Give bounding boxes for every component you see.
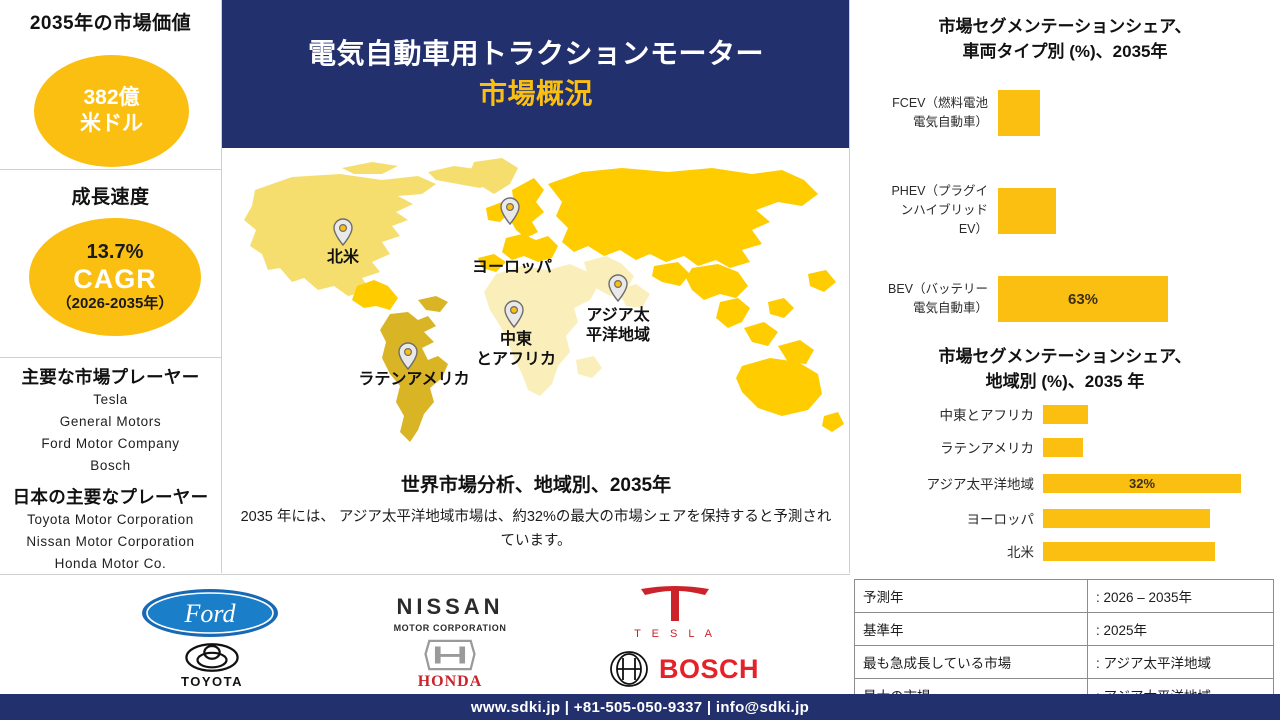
vehicle-type-chart-title-line2: 車両タイプ別 (%)、2035年 xyxy=(858,39,1272,64)
vehicle-type-label-phev: PHEV（プラグイ ンハイブリッド EV） xyxy=(850,182,998,239)
map-pin-latin-america xyxy=(397,342,419,370)
market-value-cell: 2035年の市場価値 382億 米ドル xyxy=(0,0,221,170)
footer-bar: www.sdki.jp | +81-505-050-9337 | info@sd… xyxy=(0,694,1280,720)
table-row: 基準年 : 2025年 xyxy=(855,613,1274,646)
region-bar-row: ヨーロッパ xyxy=(850,506,1280,530)
region-label-mea: 中東とアフリカ xyxy=(850,404,1043,424)
region-bar-latam xyxy=(1043,438,1083,457)
japan-players-heading: 日本の主要なプレーヤー xyxy=(0,477,221,509)
footer-contact-text: www.sdki.jp | +81-505-050-9337 | info@sd… xyxy=(471,699,809,716)
fact-value: : アジア太平洋地域 xyxy=(1087,646,1273,679)
vehicle-type-label-bev: BEV（バッテリー 電気自動車） xyxy=(850,280,998,318)
label-line: PHEV（プラグイ xyxy=(850,182,988,201)
market-value-bubble: 382億 米ドル xyxy=(34,55,189,167)
fact-value: : 2025年 xyxy=(1087,613,1273,646)
infographic-page: 2035年の市場価値 382億 米ドル 成長速度 13.7% CAGR （202… xyxy=(0,0,1280,720)
bosch-emblem-icon xyxy=(609,650,649,688)
bosch-logo: BOSCH xyxy=(596,649,772,689)
fact-value: : 2026 – 2035年 xyxy=(1087,580,1273,613)
map-pin-asia-pacific xyxy=(607,274,629,302)
growth-rate-bubble: 13.7% CAGR （2026-2035年） xyxy=(29,218,201,336)
region-bar-europe xyxy=(1043,509,1210,528)
player-item: General Motors xyxy=(0,411,221,433)
region-bar-apac: 32% xyxy=(1043,474,1241,493)
region-label-europe: ヨーロッパ xyxy=(850,508,1043,528)
player-item: Bosch xyxy=(0,455,221,477)
fact-key: 最も急成長している市場 xyxy=(855,646,1088,679)
vehicle-type-bar-phev xyxy=(998,188,1056,234)
svg-text:Ford: Ford xyxy=(183,599,236,628)
region-bar-row: ラテンアメリカ xyxy=(850,435,1280,459)
growth-rate-title: 成長速度 xyxy=(0,170,221,209)
region-chart-title: 市場セグメンテーションシェア、 地域別 (%)、2035 年 xyxy=(858,344,1272,394)
right-charts-column: 市場セグメンテーションシェア、 車両タイプ別 (%)、2035年 FCEV（燃料… xyxy=(850,0,1280,573)
honda-logo-text: HONDA xyxy=(418,673,483,691)
region-bar-mea xyxy=(1043,405,1088,424)
label-line: BEV（バッテリー xyxy=(850,280,988,299)
left-stats-column: 2035年の市場価値 382億 米ドル 成長速度 13.7% CAGR （202… xyxy=(0,0,222,573)
toyota-logo-text: TOYOTA xyxy=(181,674,243,689)
region-bar-row: 北米 xyxy=(850,539,1280,563)
player-item: Nissan Motor Corporation xyxy=(0,531,221,553)
market-value-title: 2035年の市場価値 xyxy=(0,0,221,35)
vehicle-type-chart-title: 市場セグメンテーションシェア、 車両タイプ別 (%)、2035年 xyxy=(858,14,1272,64)
vehicle-type-bar-fcev xyxy=(998,90,1040,136)
map-label-latin-america: ラテンアメリカ xyxy=(332,370,496,390)
map-label-middle-east-africa: 中東とアフリカ xyxy=(472,330,560,370)
column-divider xyxy=(849,0,850,573)
label-line: 電気自動車） xyxy=(850,299,988,318)
region-bar-row: アジア太平洋地域 32% xyxy=(850,471,1280,495)
tesla-t-icon xyxy=(637,585,713,623)
region-chart-title-line1: 市場セグメンテーションシェア、 xyxy=(858,344,1272,369)
ford-logo: Ford xyxy=(140,587,280,639)
map-pin-north-america xyxy=(332,218,354,246)
fact-key: 基準年 xyxy=(855,613,1088,646)
region-bar-value: 32% xyxy=(1129,476,1155,491)
nissan-logo: NISSAN MOTOR CORPORATION xyxy=(380,589,520,637)
vehicle-type-label-fcev: FCEV（燃料電池 電気自動車） xyxy=(850,94,998,132)
region-label-apac: アジア太平洋地域 xyxy=(850,473,1043,493)
bosch-logo-text: BOSCH xyxy=(659,654,759,685)
honda-logo: HONDA xyxy=(396,639,504,691)
player-item: Toyota Motor Corporation xyxy=(0,509,221,531)
growth-rate-cell: 成長速度 13.7% CAGR （2026-2035年） xyxy=(0,170,221,358)
region-bar-na xyxy=(1043,542,1215,561)
toyota-emblem-icon xyxy=(180,643,244,672)
cagr-percent: 13.7% xyxy=(87,241,144,264)
global-players-heading: 主要な市場プレーヤー xyxy=(0,358,221,389)
tesla-logo: T E S L A xyxy=(620,583,730,641)
region-chart-title-line2: 地域別 (%)、2035 年 xyxy=(858,369,1272,394)
player-item: Honda Motor Co. xyxy=(0,553,221,575)
map-region-north-america xyxy=(244,162,498,310)
label-line: FCEV（燃料電池 xyxy=(850,94,988,113)
map-region-greenland xyxy=(470,158,518,194)
map-region-asia-pacific xyxy=(548,168,844,432)
vehicle-type-bar-row: PHEV（プラグイ ンハイブリッド EV） xyxy=(850,182,1280,239)
map-label-north-america: 北米 xyxy=(318,248,368,268)
table-row: 最も急成長している市場 : アジア太平洋地域 xyxy=(855,646,1274,679)
tesla-logo-text: T E S L A xyxy=(634,628,716,640)
table-row: 予測年 : 2026 – 2035年 xyxy=(855,580,1274,613)
vehicle-type-bar-row: FCEV（燃料電池 電気自動車） xyxy=(850,90,1280,136)
vehicle-type-bar-bev: 63% xyxy=(998,276,1168,322)
fact-table: 予測年 : 2026 – 2035年 基準年 : 2025年 最も急成長している… xyxy=(854,579,1274,712)
company-logos-strip: Ford NISSAN MOTOR CORPORATION T E S L A … xyxy=(0,574,850,694)
label-line: ンハイブリッド xyxy=(850,201,988,220)
player-item: Tesla xyxy=(0,389,221,411)
center-column: 電気自動車用トラクションモーター 市場概況 xyxy=(222,0,850,573)
region-label-latam: ラテンアメリカ xyxy=(850,437,1043,457)
market-value-amount: 382億 xyxy=(83,85,139,111)
vehicle-type-bar-value: 63% xyxy=(1068,291,1098,308)
label-line: EV） xyxy=(850,220,988,239)
world-map: 北米 ヨーロッパ 中東とアフリカ アジア太平洋地域 ラテンアメリカ xyxy=(222,150,850,455)
honda-emblem-icon xyxy=(420,639,480,671)
map-label-asia-pacific: アジア太平洋地域 xyxy=(570,306,666,346)
global-analysis-title: 世界市場分析、地域別、2035年 xyxy=(222,470,850,497)
world-map-svg xyxy=(222,150,850,455)
region-label-na: 北米 xyxy=(850,541,1043,561)
map-label-europe: ヨーロッパ xyxy=(462,258,562,278)
page-title: 電気自動車用トラクションモーター xyxy=(308,34,764,74)
vehicle-type-chart-title-line1: 市場セグメンテーションシェア、 xyxy=(858,14,1272,39)
region-bar-row: 中東とアフリカ xyxy=(850,402,1280,426)
cagr-period: （2026-2035年） xyxy=(57,294,174,314)
player-item: Ford Motor Company xyxy=(0,433,221,455)
market-value-currency: 米ドル xyxy=(80,111,143,137)
nissan-logo-subtext: MOTOR CORPORATION xyxy=(394,623,507,633)
map-pin-europe xyxy=(499,197,521,225)
label-line: 電気自動車） xyxy=(850,113,988,132)
nissan-logo-text: NISSAN xyxy=(396,594,503,620)
cagr-label: CAGR xyxy=(73,264,157,294)
global-analysis-body: 2035 年には、 アジア太平洋地域市場は、約32%の最大の市場シェアを保持する… xyxy=(240,505,832,553)
key-players-cell: 主要な市場プレーヤー Tesla General Motors Ford Mot… xyxy=(0,358,221,573)
page-subtitle: 市場概況 xyxy=(479,74,593,114)
fact-key: 予測年 xyxy=(855,580,1088,613)
vehicle-type-bar-row: BEV（バッテリー 電気自動車） 63% xyxy=(850,276,1280,322)
map-pin-middle-east-africa xyxy=(503,300,525,328)
toyota-logo: TOYOTA xyxy=(160,643,264,689)
title-banner: 電気自動車用トラクションモーター 市場概況 xyxy=(222,0,850,148)
